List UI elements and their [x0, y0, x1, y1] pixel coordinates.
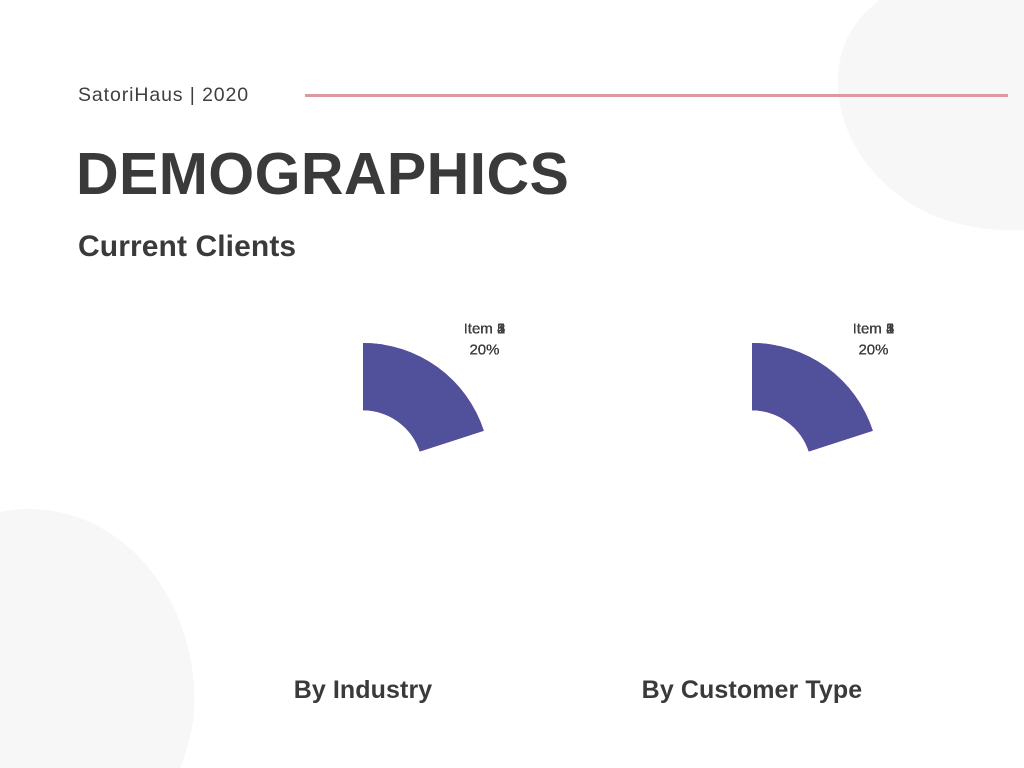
slide-header: SatoriHaus | 2020 [78, 80, 1008, 110]
slice-label-value: 20% [853, 340, 895, 362]
donut-plot-area-1: Item 1 20% Item 2 20% Item 3 20% Item 4 … [552, 296, 952, 644]
slice-label-item-5-chart-0: Item 5 20% [464, 318, 506, 362]
donut-chart-by-customer-type: Item 1 20% Item 2 20% Item 3 20% Item 4 … [552, 296, 952, 726]
chart-caption-by-customer-type: By Customer Type [552, 676, 952, 705]
brand-eyebrow: SatoriHaus | 2020 [78, 84, 249, 107]
slice-label-name: Item 5 [464, 318, 506, 340]
donut-chart-by-industry: Item 1 20% Item 2 20% Item 3 20% Item 4 … [163, 296, 563, 726]
page-subtitle: Current Clients [78, 230, 296, 264]
slice-label-item-5-chart-1: Item 5 20% [853, 318, 895, 362]
charts-area: Item 1 20% Item 2 20% Item 3 20% Item 4 … [0, 296, 1024, 726]
slide-content: SatoriHaus | 2020 DEMOGRAPHICS Current C… [0, 0, 1024, 768]
chart-caption-by-industry: By Industry [163, 676, 563, 705]
donut-plot-area-0: Item 1 20% Item 2 20% Item 3 20% Item 4 … [163, 296, 563, 644]
slice-label-name: Item 5 [853, 318, 895, 340]
page-title: DEMOGRAPHICS [76, 144, 569, 206]
header-divider-rule [305, 94, 1008, 97]
slice-label-value: 20% [464, 340, 506, 362]
